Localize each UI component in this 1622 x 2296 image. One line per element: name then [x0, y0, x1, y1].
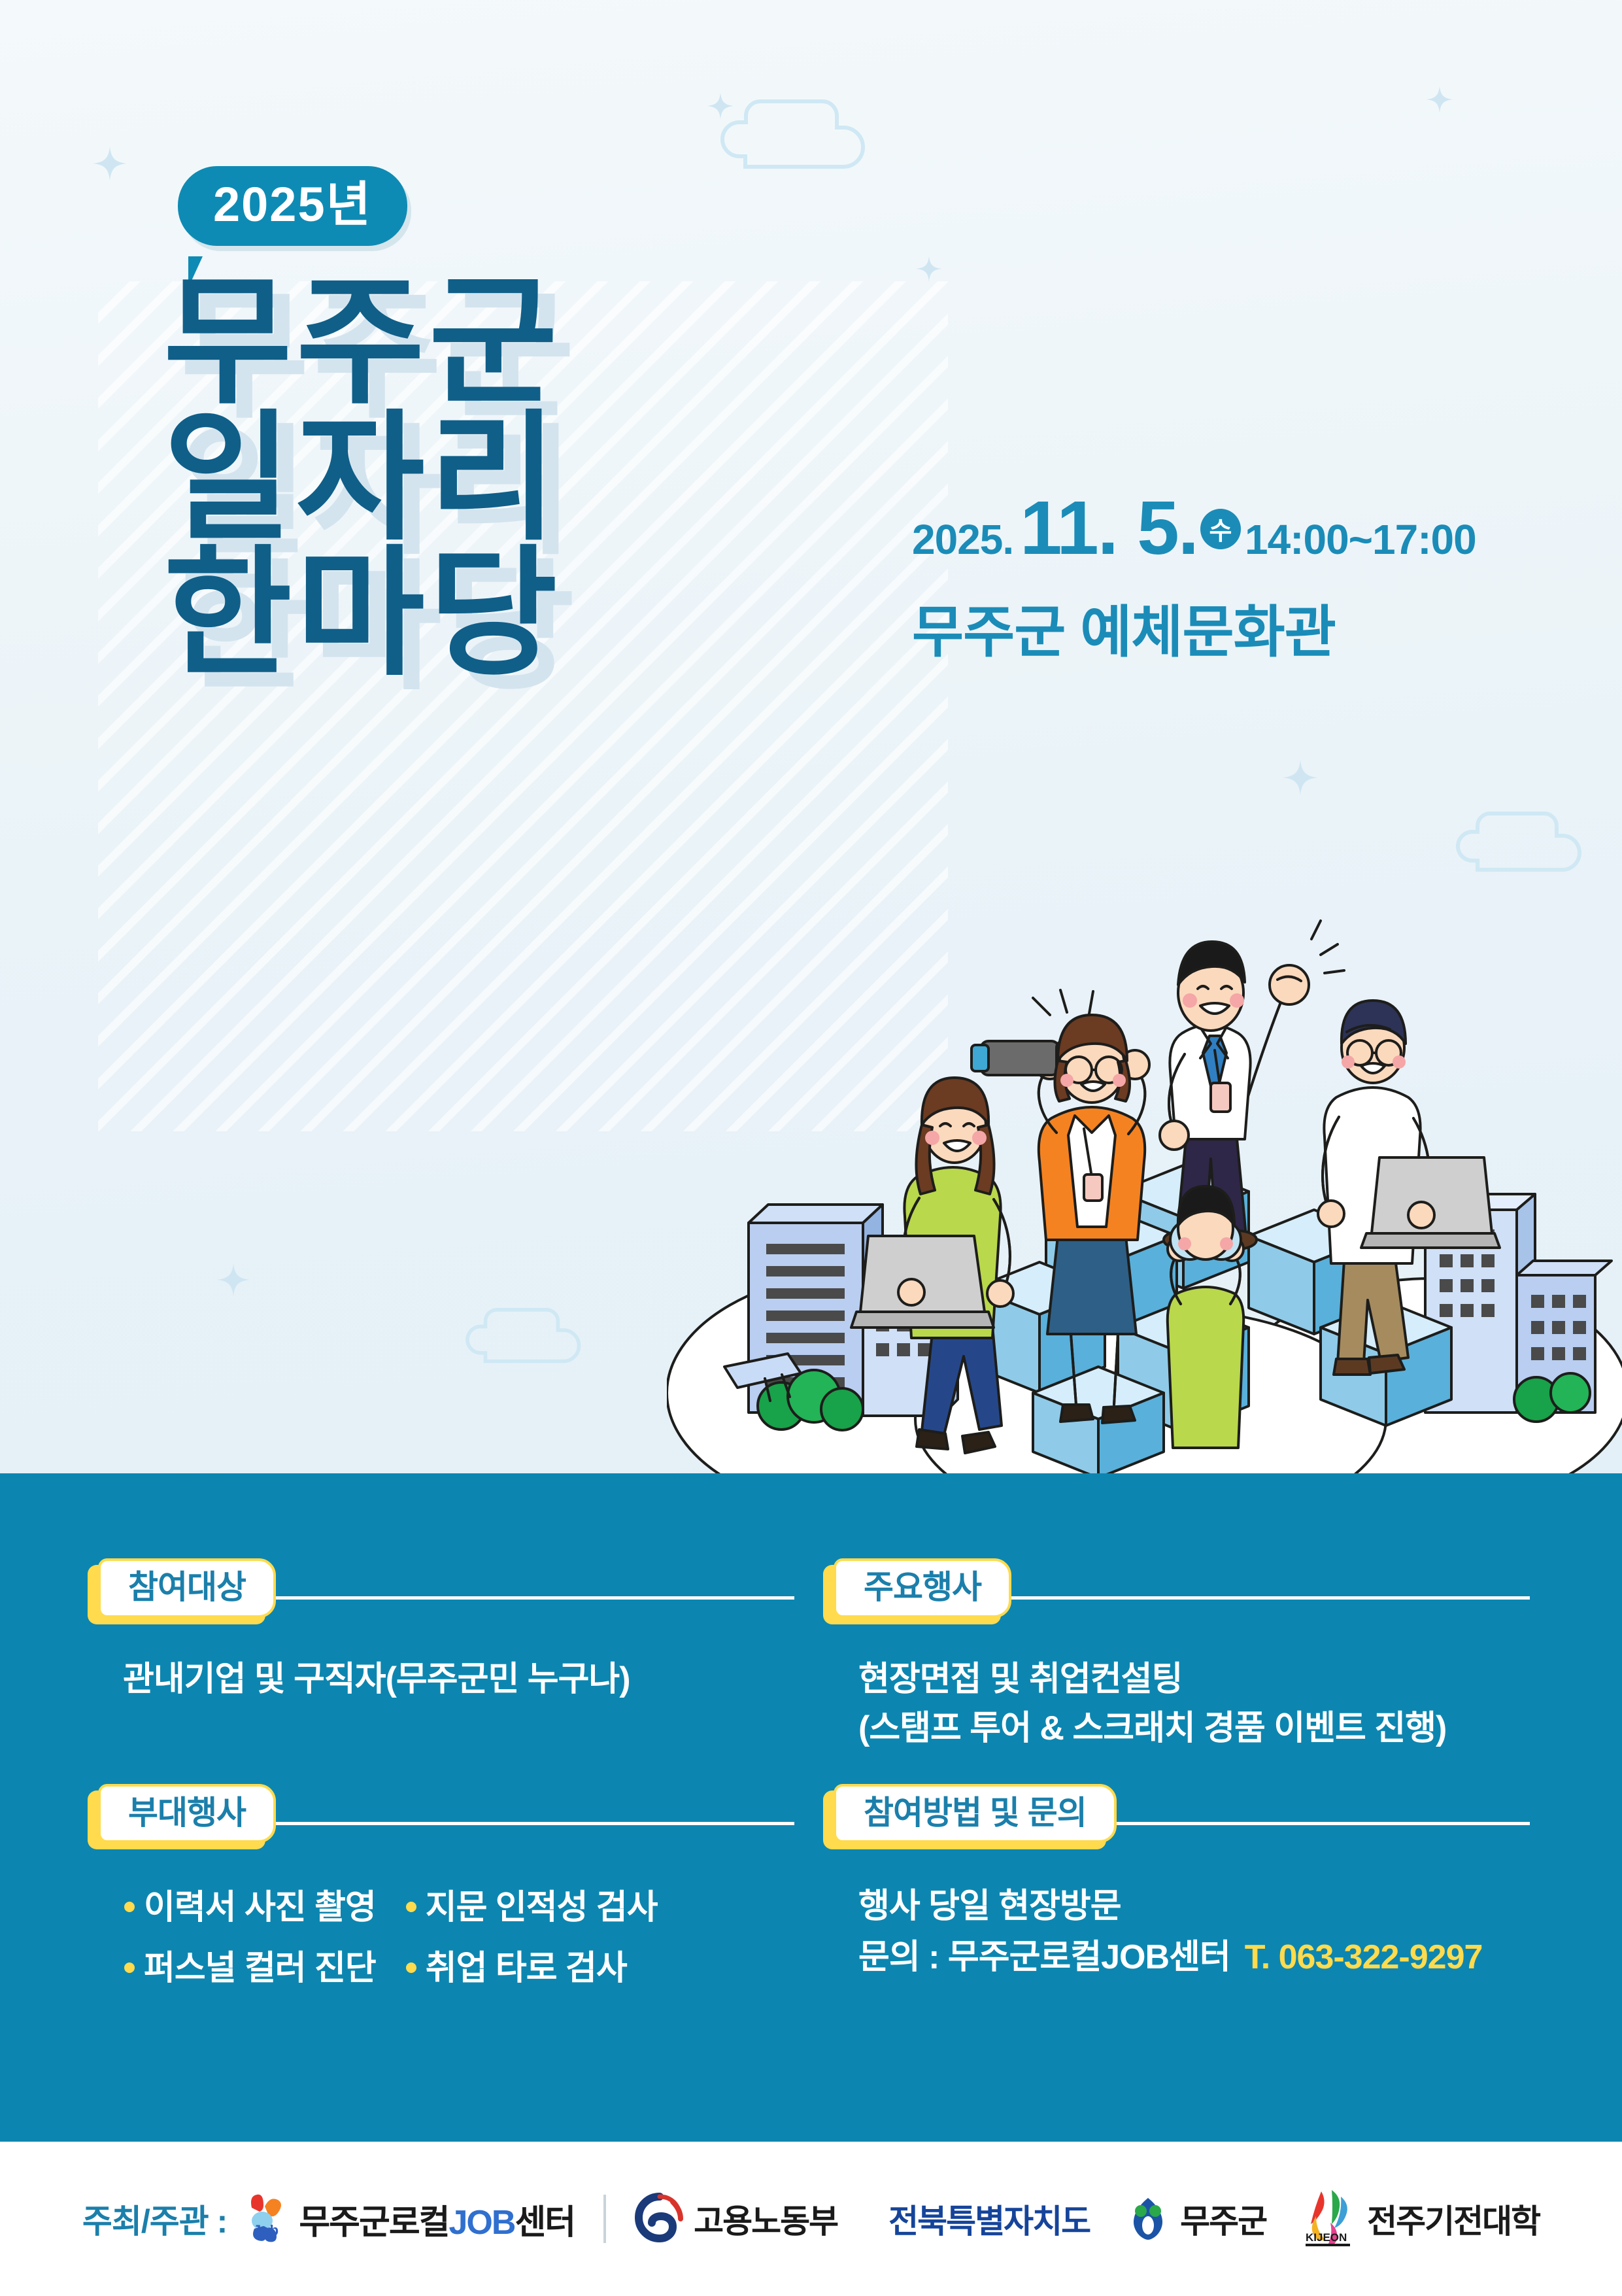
sparkle-icon — [216, 1262, 251, 1297]
main-events-line-1: 현장면접 및 취업컨설팅 — [858, 1655, 1530, 1704]
job-center-name-part2: 센터 — [515, 2204, 575, 2242]
tag-how-to: 참여방법 및 문의 — [834, 1784, 1117, 1843]
sparkle-icon — [1281, 759, 1319, 797]
bullet-dot-icon — [124, 1962, 135, 1973]
tag-face: 참여대상 — [98, 1558, 276, 1618]
info-cell-side-events: 부대행사 이력서 사진 촬영 지문 인적성 검사 퍼스널 — [98, 1784, 794, 1989]
logo-label-moel: 고용노동부 — [694, 2195, 837, 2242]
side-events-list: 이력서 사진 촬영 지문 인적성 검사 퍼스널 컬러 진단 취업 타로 검사 — [124, 1879, 794, 1989]
kijeon-emblem-icon: KIJEON — [1302, 2187, 1358, 2251]
tag-label-main-events: 주요행사 — [864, 1570, 981, 1605]
job-center-name: 무주군로컬JOB센터 — [299, 2195, 575, 2244]
tag-face: 주요행사 — [834, 1558, 1011, 1618]
how-to-inquiry-label: 문의 : 무주군로컬JOB센터 — [858, 1938, 1230, 1976]
logo-label-muju: 무주군 — [1180, 2195, 1266, 2242]
tag-row-side-events: 부대행사 — [98, 1784, 794, 1862]
year-badge: 2025년 — [178, 166, 407, 246]
info-band: 참여대상 관내기업 및 구직자(무주군민 누구나) 주요행사 — [0, 1473, 1622, 2142]
main-events-line-2: (스탬프 투어 & 스크래치 경품 이벤트 진행) — [858, 1704, 1530, 1753]
tag-face: 부대행사 — [98, 1784, 276, 1843]
title-line-1-text: 무주군 — [163, 264, 562, 420]
sparkle-icon — [92, 145, 128, 182]
title-line-2: 일자리 일자리 — [163, 411, 935, 547]
side-event-label: 퍼스널 컬러 진단 — [144, 1940, 376, 1989]
tag-face: 참여방법 및 문의 — [834, 1784, 1117, 1843]
svg-text:KIJEON: KIJEON — [1306, 2231, 1347, 2244]
taegeuk-icon — [635, 2193, 684, 2246]
bullet-dot-icon — [406, 1962, 416, 1973]
tag-main-events: 주요행사 — [834, 1558, 1011, 1618]
info-cell-participants: 참여대상 관내기업 및 구직자(무주군민 누구나) — [98, 1558, 794, 1754]
side-event-label: 지문 인적성 검사 — [426, 1879, 658, 1928]
logo-label-jeonbuk: 전북특별자치도 — [888, 2195, 1090, 2242]
tag-label-how-to: 참여방법 및 문의 — [864, 1796, 1087, 1830]
people-illustration: .ln{stroke:#1d1d1b;stroke-width:4;stroke… — [667, 870, 1622, 1478]
logo-kijeon: KIJEON 전주기전대학 — [1302, 2187, 1540, 2251]
how-to-line-2-row: 문의 : 무주군로컬JOB센터T. 063-322-9297 — [858, 1932, 1530, 1983]
tag-label-side-events: 부대행사 — [128, 1796, 246, 1830]
person-child-binoculars — [1168, 1186, 1243, 1448]
svg-text:Job: Job — [253, 2222, 279, 2238]
info-cell-how-to: 참여방법 및 문의 행사 당일 현장방문 문의 : 무주군로컬JOB센터T. 0… — [834, 1784, 1530, 1989]
side-event-label: 취업 타로 검사 — [426, 1940, 627, 1989]
job-center-job-word: JOB — [449, 2204, 515, 2242]
logo-jeonbuk: 전북특별자치도 — [873, 2195, 1090, 2242]
event-time: 14:00~17:00 — [1245, 515, 1476, 564]
poster-root: 2025년 무주군 무주군 일자리 일자리 한마당 한마당 2025. 11. … — [0, 0, 1622, 2296]
sparkle-icon — [1425, 85, 1454, 114]
contact-phone[interactable]: T. 063-322-9297 — [1245, 1938, 1483, 1976]
event-weekday-badge: 수 — [1200, 509, 1241, 549]
event-venue: 무주군 예체문화관 — [912, 586, 1476, 668]
year-badge-body: 2025년 — [178, 166, 407, 246]
tag-participants: 참여대상 — [98, 1558, 276, 1618]
poster-title: 무주군 무주군 일자리 일자리 한마당 한마당 — [163, 275, 935, 682]
footer-host-label: 주최/주관 : — [82, 2195, 227, 2242]
title-line-3-text: 한마당 — [163, 536, 562, 692]
logo-moel: 고용노동부 — [635, 2193, 837, 2246]
side-event-label: 이력서 사진 촬영 — [144, 1879, 376, 1928]
event-date-line: 2025. 11. 5. 수 14:00~17:00 — [912, 484, 1476, 572]
footer-host-group: 주최/주관 : Job 무주군로컬JOB센터 — [82, 2192, 575, 2246]
title-line-3: 한마당 한마당 — [163, 546, 935, 682]
event-year: 2025. — [912, 515, 1013, 564]
info-cell-main-events: 주요행사 현장면접 및 취업컨설팅 (스탬프 투어 & 스크래치 경품 이벤트 … — [834, 1558, 1530, 1754]
tag-row-how-to: 참여방법 및 문의 — [834, 1784, 1530, 1862]
cloud-icon — [709, 88, 925, 180]
bullet-dot-icon — [124, 1902, 135, 1912]
footer-sponsors: 주최/주관 : Job 무주군로컬JOB센터 — [0, 2142, 1622, 2296]
how-to-body: 행사 당일 현장방문 문의 : 무주군로컬JOB센터T. 063-322-929… — [858, 1881, 1530, 1983]
event-month-day: 11. 5. — [1020, 484, 1198, 572]
logo-muju: 무주군 — [1125, 2193, 1266, 2246]
title-line-2-text: 일자리 — [163, 400, 562, 557]
muju-emblem-icon — [1125, 2193, 1171, 2246]
bullet-dot-icon — [406, 1902, 416, 1912]
job-center-name-part1: 무주군로컬 — [299, 2204, 448, 2242]
main-events-body: 현장면접 및 취업컨설팅 (스탬프 투어 & 스크래치 경품 이벤트 진행) — [858, 1655, 1530, 1754]
list-item: 취업 타로 검사 — [406, 1940, 658, 1989]
year-badge-label: 2025년 — [213, 180, 372, 229]
list-item: 지문 인적성 검사 — [406, 1879, 658, 1928]
tag-label-participants: 참여대상 — [128, 1570, 246, 1605]
info-grid: 참여대상 관내기업 및 구직자(무주군민 누구나) 주요행사 — [98, 1558, 1530, 1989]
tag-row-main-events: 주요행사 — [834, 1558, 1530, 1637]
footer-divider — [603, 2195, 606, 2243]
list-item: 퍼스널 컬러 진단 — [124, 1940, 376, 1989]
participants-text: 관내기업 및 구직자(무주군민 누구나) — [123, 1655, 794, 1704]
how-to-line-1: 행사 당일 현장방문 — [858, 1881, 1530, 1932]
job-center-logo: Job 무주군로컬JOB센터 — [243, 2192, 575, 2246]
participants-body: 관내기업 및 구직자(무주군민 누구나) — [123, 1655, 794, 1704]
tag-side-events: 부대행사 — [98, 1784, 276, 1843]
logo-label-kijeon: 전주기전대학 — [1367, 2195, 1540, 2242]
tag-row-participants: 참여대상 — [98, 1558, 794, 1637]
job-center-mark-icon: Job — [243, 2192, 290, 2246]
cloud-icon — [458, 1301, 621, 1373]
list-item: 이력서 사진 촬영 — [124, 1879, 376, 1928]
event-datetime-block: 2025. 11. 5. 수 14:00~17:00 무주군 예체문화관 — [912, 484, 1476, 668]
jeonbuk-emblem-icon — [873, 2213, 879, 2225]
title-line-1: 무주군 무주군 — [163, 275, 935, 411]
